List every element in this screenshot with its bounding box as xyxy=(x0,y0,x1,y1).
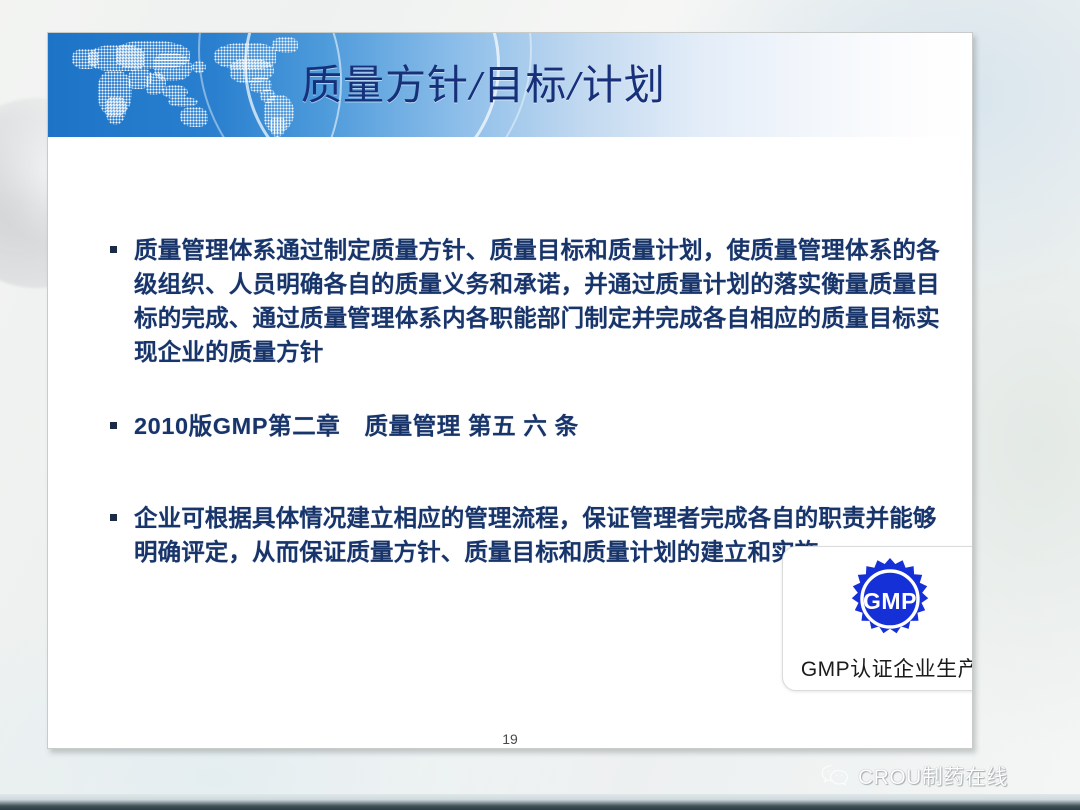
title-part-2: 目标 xyxy=(483,61,567,109)
site-watermark: CROU制药在线 xyxy=(820,761,1008,791)
title-separator-1: / xyxy=(469,62,483,108)
wechat-icon xyxy=(820,763,850,789)
square-bullet-icon xyxy=(110,246,117,253)
svg-text:GMP: GMP xyxy=(863,588,917,614)
bullet-item-text: 质量管理体系通过制定质量方针、质量目标和质量计划，使质量管理体系的各级组织、人员… xyxy=(134,233,948,369)
watermark-text: CROU制药在线 xyxy=(858,761,1008,791)
title-part-3: 计划 xyxy=(582,61,666,109)
page-title: 质量方针/目标/计划 xyxy=(301,55,861,115)
slide-canvas: 质量方针/目标/计划 质量管理体系通过制定质量方针、质量目标和质量计划，使质量管… xyxy=(47,32,973,749)
gmp-badge-icon: GMP xyxy=(840,557,940,657)
bullet-item-text: 2010版GMP第二章 质量管理 第五 六 条 xyxy=(134,409,948,443)
page-number: 19 xyxy=(48,731,972,747)
slide-header-banner: 质量方针/目标/计划 xyxy=(48,33,972,137)
title-separator-2: / xyxy=(567,62,581,108)
title-part-1: 质量方针 xyxy=(301,61,469,109)
bullet-item: 2010版GMP第二章 质量管理 第五 六 条 xyxy=(110,409,948,443)
square-bullet-icon xyxy=(110,514,117,521)
gmp-logo-card: GMP GMP认证企业生产 xyxy=(782,546,973,691)
square-bullet-icon xyxy=(110,422,117,429)
gmp-logo-caption: GMP认证企业生产 xyxy=(783,653,973,683)
bullet-item: 质量管理体系通过制定质量方针、质量目标和质量计划，使质量管理体系的各级组织、人员… xyxy=(110,233,948,369)
